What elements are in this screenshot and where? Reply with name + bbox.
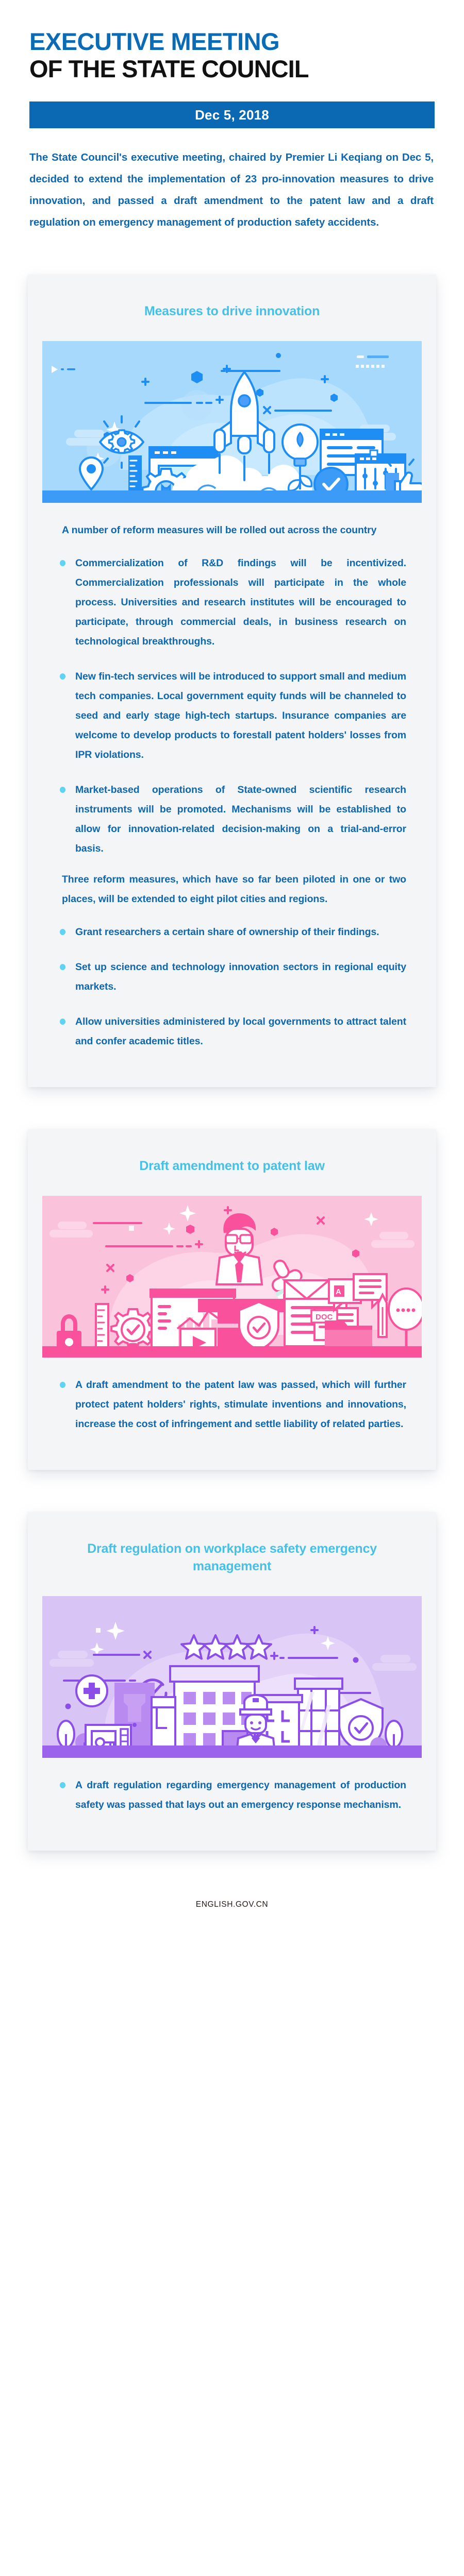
workplace-safety-city-illustration — [42, 1596, 422, 1758]
bullet-dot-icon — [60, 673, 65, 680]
section-card-patent-law: Draft amendment to patent law — [28, 1129, 436, 1470]
bullet-list-group-1: Commercialization of R&D findings will b… — [58, 553, 406, 858]
date-badge-label: Dec 5, 2018 — [195, 107, 269, 123]
card-body-workplace-safety: A draft regulation regarding emergency m… — [28, 1758, 436, 1851]
list-item-text: A draft regulation regarding emergency m… — [75, 1780, 406, 1810]
page-title-line1: EXECUTIVE MEETING — [29, 28, 435, 56]
bullet-dot-icon — [60, 787, 65, 793]
page-title-line2: OF THE STATE COUNCIL — [29, 56, 435, 83]
list-item-text: Allow universities administered by local… — [75, 1016, 406, 1047]
date-badge: Dec 5, 2018 — [29, 101, 435, 128]
list-item: Set up science and technology innovation… — [58, 957, 406, 996]
list-item-text: Grant researchers a certain share of own… — [75, 926, 379, 938]
patent-law-speaker-illustration: PASS — [42, 1196, 422, 1358]
bullet-dot-icon — [60, 964, 65, 970]
innovation-rocket-illustration — [42, 341, 422, 503]
bullet-dot-icon — [60, 1019, 65, 1025]
lead-paragraph-2: Three reform measures, which have so far… — [58, 870, 406, 909]
bullet-list-group-1: A draft amendment to the patent law was … — [58, 1375, 406, 1434]
list-item: New fin-tech services will be introduced… — [58, 667, 406, 765]
bullet-dot-icon — [60, 1382, 65, 1388]
section-title-patent-law: Draft amendment to patent law — [28, 1129, 436, 1175]
card-body-patent-law: A draft amendment to the patent law was … — [28, 1358, 436, 1470]
page-footer: ENGLISH.GOV.CN — [0, 1900, 464, 1945]
bullet-dot-icon — [60, 1782, 65, 1788]
list-item: Commercialization of R&D findings will b… — [58, 553, 406, 651]
bullet-dot-icon — [60, 560, 65, 566]
page-header: EXECUTIVE MEETING OF THE STATE COUNCIL D… — [0, 0, 464, 233]
card-body-innovation: A number of reform measures will be roll… — [28, 503, 436, 1087]
bullet-dot-icon — [60, 929, 65, 935]
svg-text:A: A — [336, 1287, 341, 1296]
section-card-innovation: Measures to drive innovation — [28, 275, 436, 1087]
intro-paragraph: The State Council's executive meeting, c… — [29, 147, 434, 233]
list-item: A draft amendment to the patent law was … — [58, 1375, 406, 1434]
lead-paragraph-1: A number of reform measures will be roll… — [58, 520, 406, 540]
bullet-list-group-1: A draft regulation regarding emergency m… — [58, 1775, 406, 1815]
list-item: A draft regulation regarding emergency m… — [58, 1775, 406, 1815]
list-item-text: Commercialization of R&D findings will b… — [75, 557, 406, 647]
bullet-list-group-2: Grant researchers a certain share of own… — [58, 922, 406, 1051]
section-card-workplace-safety: Draft regulation on workplace safety eme… — [28, 1512, 436, 1851]
source-label: ENGLISH.GOV.CN — [196, 1900, 268, 1909]
list-item-text: New fin-tech services will be introduced… — [75, 671, 406, 760]
section-title-innovation: Measures to drive innovation — [28, 275, 436, 320]
list-item: Grant researchers a certain share of own… — [58, 922, 406, 942]
list-item-text: Market-based operations of State-owned s… — [75, 784, 406, 854]
section-title-workplace-safety: Draft regulation on workplace safety eme… — [28, 1512, 436, 1575]
list-item-text: A draft amendment to the patent law was … — [75, 1379, 406, 1430]
list-item: Allow universities administered by local… — [58, 1012, 406, 1051]
list-item-text: Set up science and technology innovation… — [75, 961, 406, 992]
svg-text:DOC: DOC — [316, 1313, 333, 1321]
list-item: Market-based operations of State-owned s… — [58, 780, 406, 858]
